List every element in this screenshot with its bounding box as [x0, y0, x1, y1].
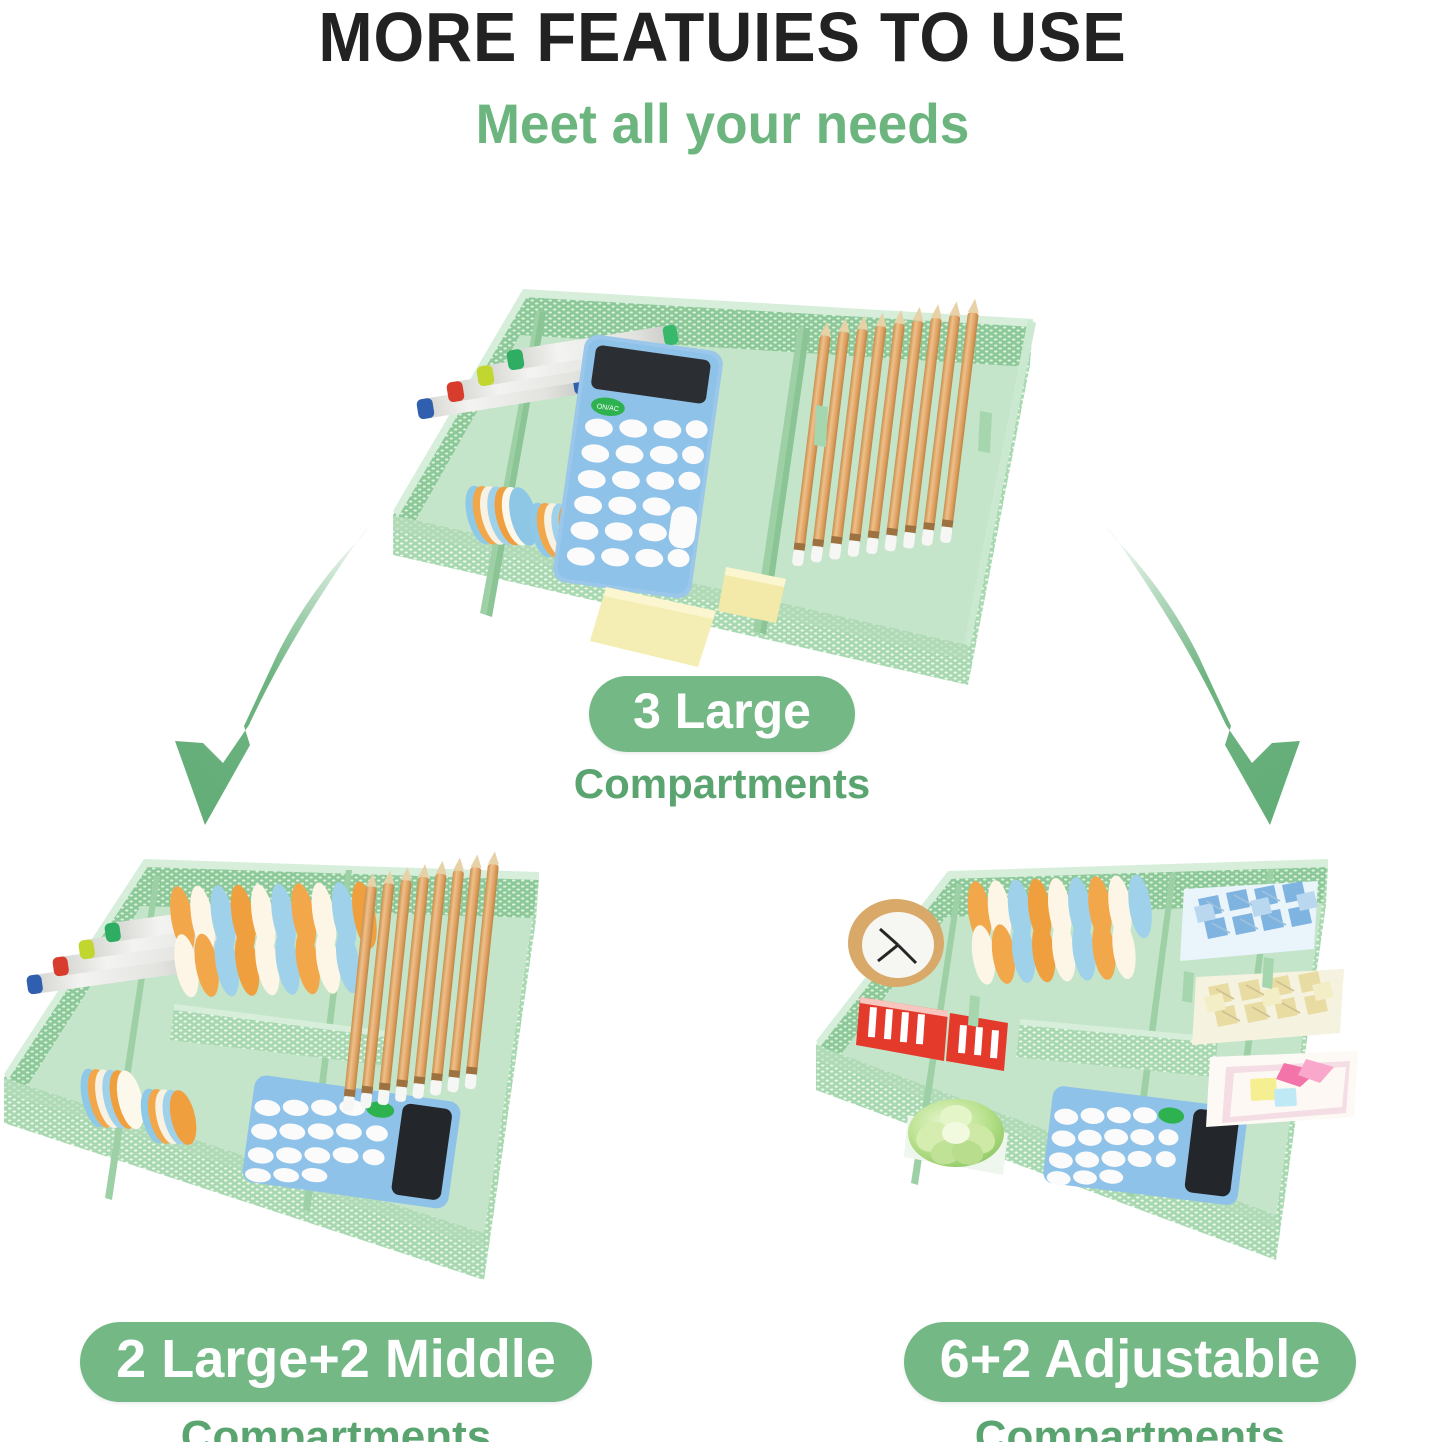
compartment-washi-upper [166, 880, 381, 999]
compartment-blue-clips [1180, 881, 1318, 961]
badge-sub-label: Compartments [16, 1412, 656, 1442]
product-image-6-plus-2-adjustable [798, 845, 1426, 1295]
product-image-2-large-2-middle [0, 828, 564, 1316]
badge-pill-label: 6+2 Adjustable [904, 1322, 1357, 1402]
page-subtitle: Meet all your needs [36, 95, 1409, 154]
product-image-3-large: ON/AC [368, 215, 1073, 690]
page-title: MORE FEATUIES TO USE [51, 2, 1395, 72]
badge-3-large: 3 Large Compartments [472, 676, 972, 808]
badge-pill-label: 2 Large+2 Middle [80, 1322, 592, 1402]
compartment-clock [848, 899, 944, 987]
badge-sub-label: Compartments [830, 1412, 1430, 1442]
compartment-sticky-notes [1206, 1051, 1358, 1127]
badge-pill-label: 3 Large [589, 676, 855, 752]
badge-sub-label: Compartments [472, 760, 972, 808]
badge-6-plus-2-adjustable: 6+2 Adjustable Compartments [830, 1322, 1430, 1442]
badge-2-large-2-middle: 2 Large+2 Middle Compartments [16, 1322, 656, 1442]
